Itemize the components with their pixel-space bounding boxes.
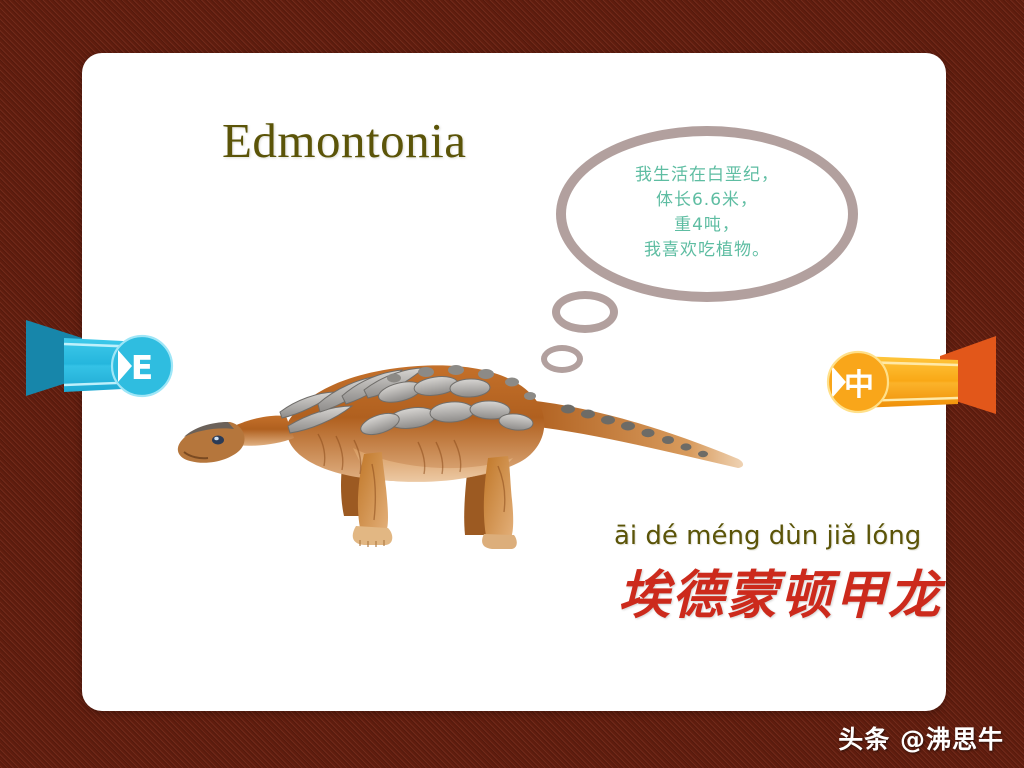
pinyin-label: āi dé méng dùn jiǎ lóng — [614, 521, 921, 551]
dino-eye-highlight — [214, 437, 218, 441]
thought-bubble-text: 我生活在白垩纪， 体长6.6米， 重4吨， 我喜欢吃植物。 — [566, 163, 848, 263]
ribbon-left-english[interactable]: E — [24, 316, 179, 416]
dino-hind-leg-near — [484, 456, 513, 544]
watermark: 头条 @沸思牛 — [838, 720, 1004, 756]
dino-front-foot — [353, 526, 393, 545]
ribbon-right-badge-label: 中 — [844, 368, 874, 403]
ribbon-left-badge-label: E — [131, 348, 154, 387]
dino-eye — [212, 436, 224, 445]
thought-bubble-trail-dot-large — [552, 291, 618, 333]
dino-tail — [528, 400, 743, 468]
ribbon-right-chinese[interactable]: 中 — [800, 332, 1000, 432]
page-title: Edmontonia — [222, 112, 467, 169]
dino-hind-foot — [482, 534, 517, 549]
chinese-name-label: 埃德蒙顿甲龙 — [618, 553, 942, 628]
slide-canvas: Edmontonia 我生活在白垩纪， 体长6.6米， 重4吨， 我喜欢吃植物。 — [0, 0, 1024, 768]
